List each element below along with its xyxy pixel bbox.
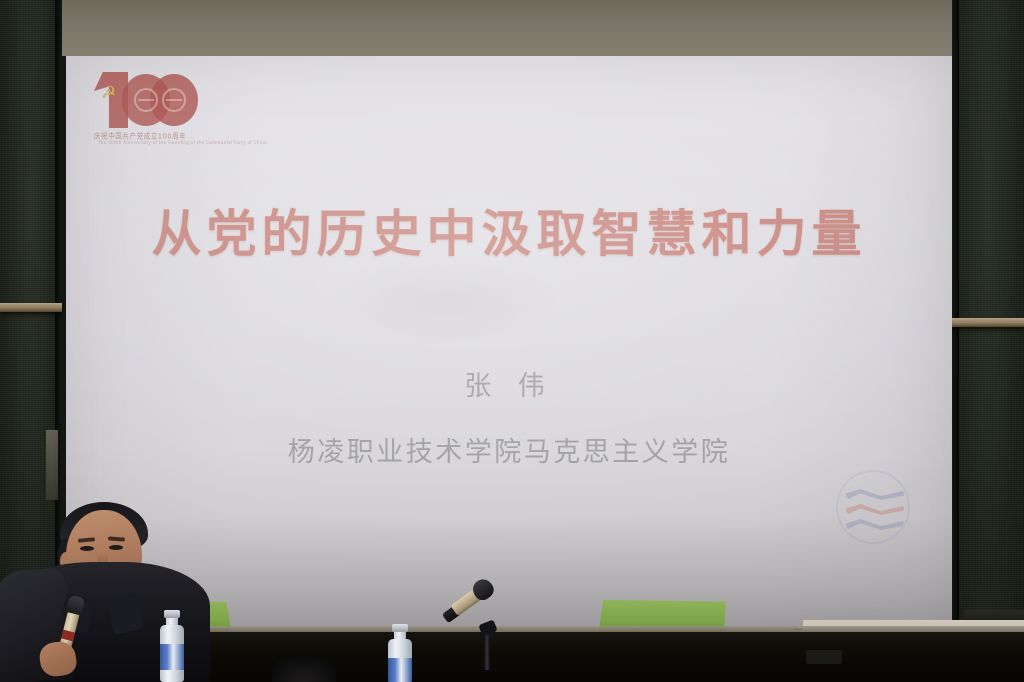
screen-valance xyxy=(62,0,952,56)
slide-title: 从党的历史中汲取智慧和力量 xyxy=(66,194,952,266)
person-eye-right xyxy=(109,545,123,550)
table-object-dark xyxy=(806,650,842,664)
seal-band-bottom xyxy=(846,519,904,530)
chalk-rail-left xyxy=(0,303,62,312)
seal-band-middle xyxy=(846,504,904,515)
institution-watermark-seal xyxy=(836,470,910,544)
cpc-centenary-emblem: ☭ 庆祝中国共产党成立100周年 The 100th Anniversary o… xyxy=(92,72,222,160)
blackboard-texture-right xyxy=(952,0,1024,682)
lecture-photo-scene: ☭ 庆祝中国共产党成立100周年 The 100th Anniversary o… xyxy=(0,0,1024,682)
emblem-caption-english: The 100th Anniversary of the Founding of… xyxy=(98,140,267,146)
emblem-zero-bar-second xyxy=(166,99,182,101)
mic-stand-clip xyxy=(478,619,497,636)
screen-smudge xyxy=(332,253,562,346)
bottle-cap xyxy=(164,610,180,618)
chalk-rail-right xyxy=(952,318,1024,327)
slide-speaker-name: 张 伟 xyxy=(66,364,952,403)
blackboard-right xyxy=(952,0,1024,682)
water-bottle-center xyxy=(386,624,414,682)
person-eye-left xyxy=(80,546,94,551)
table-microphone-stand xyxy=(462,592,518,670)
bottle-label xyxy=(388,658,412,682)
emblem-mark: ☭ xyxy=(92,72,204,128)
slide-organization: 杨凌职业技术学院马克思主义学院 xyxy=(66,430,952,469)
audience-head xyxy=(272,658,336,682)
wall-strip-left xyxy=(46,430,58,500)
bottle-label xyxy=(160,644,184,670)
emblem-zero-bar-first xyxy=(138,99,154,101)
hammer-sickle-icon: ☭ xyxy=(101,85,119,101)
water-bottle-left xyxy=(158,610,186,682)
blackboard-edge-right xyxy=(952,0,959,682)
bottle-cap xyxy=(392,624,408,632)
seal-band-top xyxy=(846,489,904,500)
